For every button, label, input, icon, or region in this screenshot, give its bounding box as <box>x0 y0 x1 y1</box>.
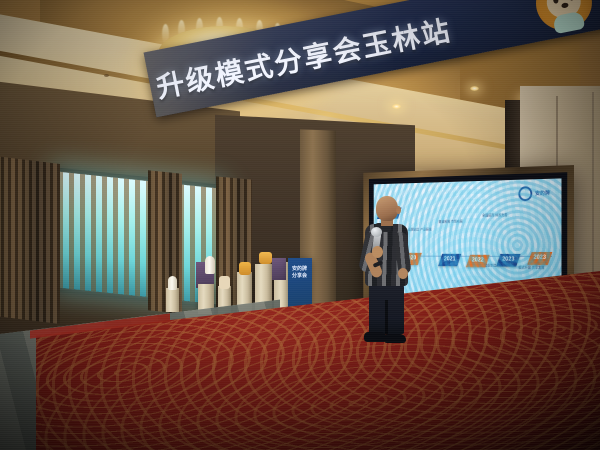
ceiling-downlight <box>392 104 401 109</box>
window-vertical-blinds <box>58 172 218 305</box>
shoe <box>384 334 406 343</box>
ceiling-downlight <box>470 86 479 91</box>
display-pedestal <box>166 288 179 312</box>
product-bottle <box>259 252 272 264</box>
product-box <box>219 276 230 289</box>
curtain-left <box>0 156 60 324</box>
exhibit-poster-purple <box>272 258 286 280</box>
poster-text: 安的牌 分享会 <box>292 266 312 280</box>
presenter-head <box>376 196 398 221</box>
exhibit-statue <box>205 256 215 274</box>
conference-hall-photo: 升级模式分享会玉林站 安的牌 2023 品牌创立 产品研发 渠道拓展 市场布局 … <box>0 0 600 450</box>
microphone-icon <box>371 227 382 237</box>
product-bottle <box>239 262 251 275</box>
exhibit-statue <box>168 276 177 290</box>
presenter-person <box>358 196 414 348</box>
